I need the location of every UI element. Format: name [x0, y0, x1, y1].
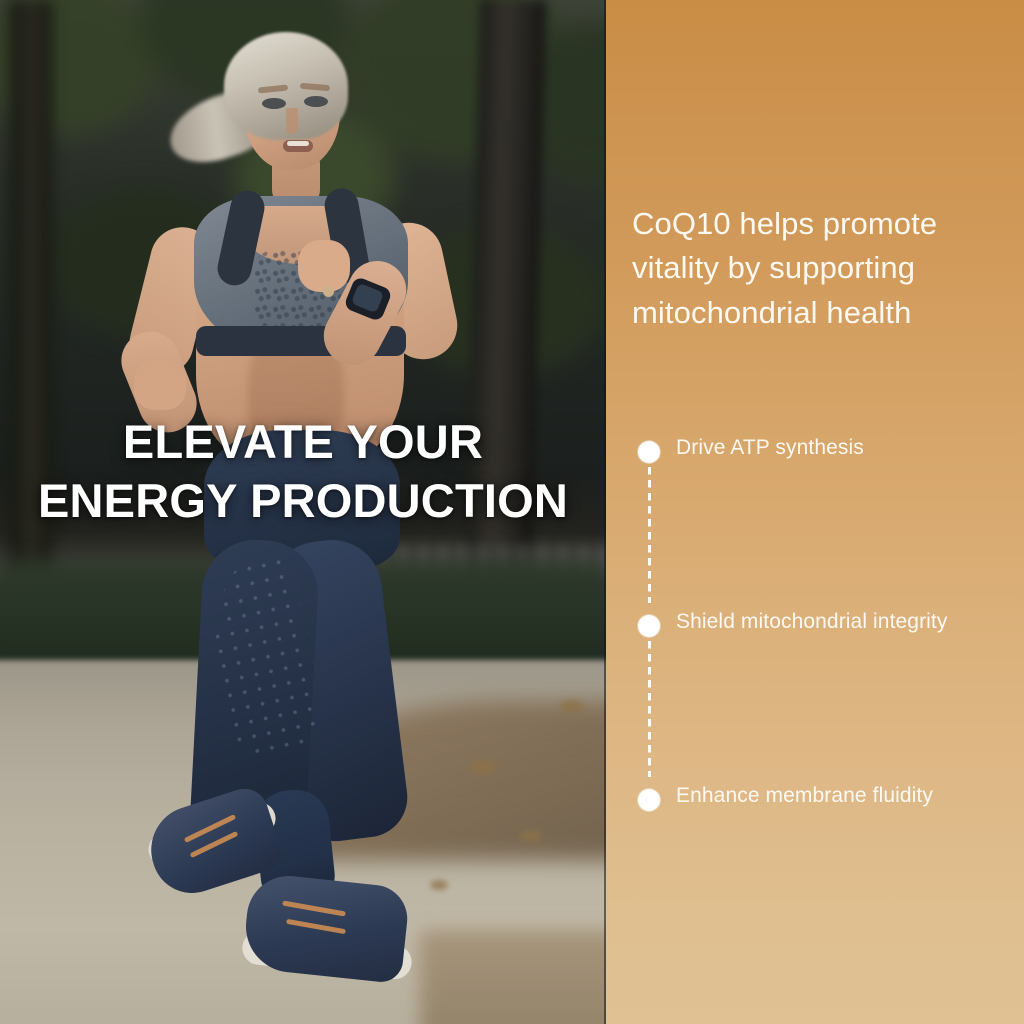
copy-heading: CoQ10 helps promote vitality by supporti…	[632, 202, 1006, 335]
benefit-label: Drive ATP synthesis	[676, 436, 864, 460]
benefit-label: Enhance membrane fluidity	[676, 784, 933, 808]
runner-right-fist	[298, 240, 350, 292]
benefit-item: Shield mitochondrial integrity	[632, 604, 1012, 778]
benefit-label: Shield mitochondrial integrity	[676, 610, 947, 634]
bullet-circle-icon	[638, 615, 660, 637]
runner-eye-left	[262, 98, 286, 109]
benefit-item: Enhance membrane fluidity	[632, 778, 1012, 812]
panel-divider	[604, 0, 606, 1024]
runner-nose	[286, 108, 298, 134]
promo-poster: ELEVATE YOUR ENERGY PRODUCTION CoQ10 hel…	[0, 0, 1024, 1024]
runner-teeth	[287, 141, 309, 146]
hero-photo-panel: ELEVATE YOUR ENERGY PRODUCTION	[0, 0, 606, 1024]
runner-left-fist	[134, 360, 186, 410]
runner-ring	[323, 286, 334, 297]
photo-headline: ELEVATE YOUR ENERGY PRODUCTION	[0, 412, 606, 530]
photo-headline-line1: ELEVATE YOUR	[123, 415, 483, 468]
dotted-connector-line	[648, 641, 651, 777]
bullet-circle-icon	[638, 789, 660, 811]
copy-panel: CoQ10 helps promote vitality by supporti…	[606, 0, 1024, 1024]
benefits-timeline: Drive ATP synthesis Shield mitochondrial…	[632, 430, 1012, 812]
bullet-circle-icon	[638, 441, 660, 463]
benefit-item: Drive ATP synthesis	[632, 430, 1012, 604]
dotted-connector-line	[648, 467, 651, 603]
photo-headline-line2: ENERGY PRODUCTION	[16, 471, 590, 530]
runner-eye-right	[304, 96, 328, 107]
